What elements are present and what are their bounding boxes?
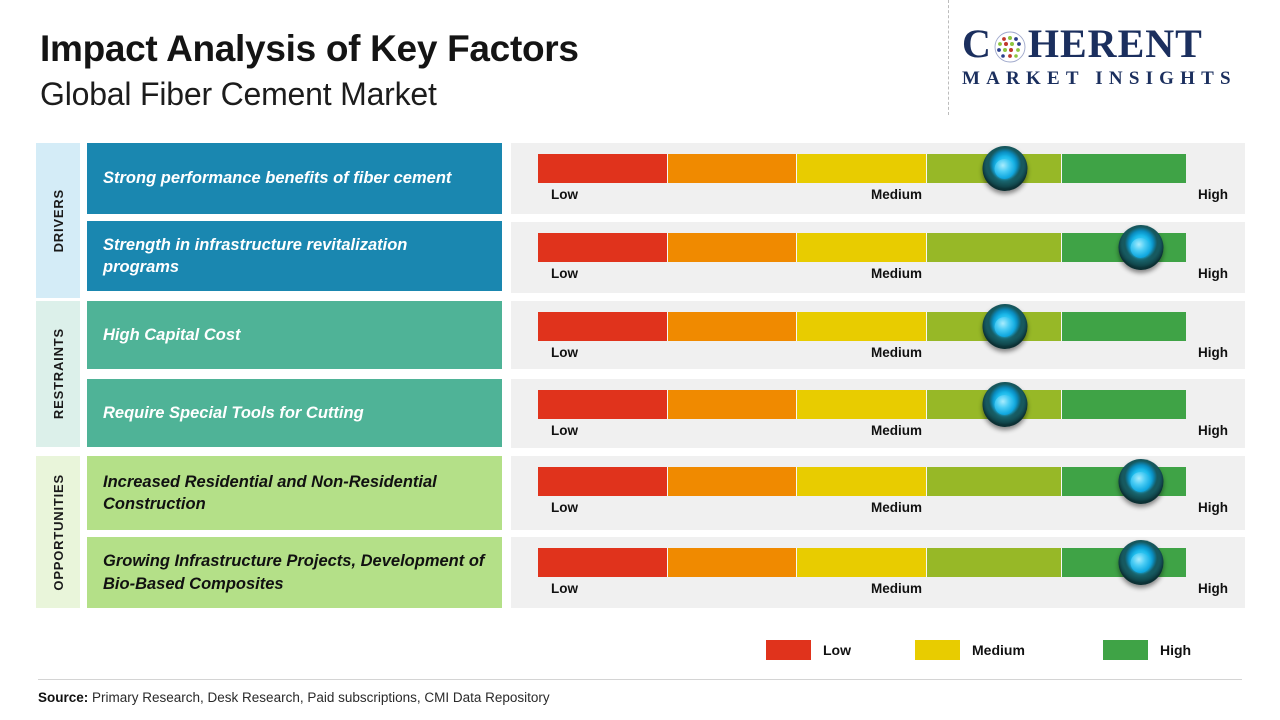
gauge-segment-low-mid — [668, 548, 798, 577]
category-tab-opportunities: OPPORTUNITIES — [36, 456, 80, 608]
source-note: Source: Primary Research, Desk Research,… — [38, 690, 550, 705]
gauge-scale-labels: Low Medium High — [538, 187, 1228, 207]
gauge-segment-low — [538, 467, 668, 496]
page-title: Impact Analysis of Key Factors — [40, 30, 579, 69]
scale-label-low: Low — [551, 266, 578, 281]
footer-divider — [38, 679, 1242, 680]
factor-box: Strong performance benefits of fiber cem… — [87, 143, 502, 214]
factor-box: Strength in infrastructure revitalizatio… — [87, 221, 502, 291]
logo-letter-c: C — [962, 22, 992, 66]
legend-item-low: Low — [766, 640, 851, 660]
gauge-segment-medium — [797, 154, 927, 183]
category-label: RESTRAINTS — [51, 328, 66, 419]
gauge-segment-low-mid — [668, 154, 798, 183]
gauge-segment-mid-high — [927, 548, 1062, 577]
gauge-segment-low — [538, 312, 668, 341]
legend-label: Medium — [972, 642, 1025, 658]
gauge-row: Low Medium High — [511, 301, 1245, 369]
gauge-segment-medium — [797, 467, 927, 496]
header-divider — [948, 0, 949, 115]
gauge-scale-labels: Low Medium High — [538, 500, 1228, 520]
gauge-bar — [538, 467, 1186, 496]
legend-label: High — [1160, 642, 1191, 658]
gauge-row: Low Medium High — [511, 222, 1245, 293]
factor-box: Increased Residential and Non-Residentia… — [87, 456, 502, 530]
scale-label-low: Low — [551, 187, 578, 202]
scale-label-medium: Medium — [871, 345, 922, 360]
gauge-scale-labels: Low Medium High — [538, 423, 1228, 443]
legend-swatch-low — [766, 640, 811, 660]
source-text: Primary Research, Desk Research, Paid su… — [88, 690, 549, 705]
legend-item-medium: Medium — [915, 640, 1025, 660]
gauge-row: Low Medium High — [511, 456, 1245, 530]
gauge-segment-high — [1062, 390, 1186, 419]
scale-label-low: Low — [551, 345, 578, 360]
gauge-segment-low — [538, 233, 668, 262]
legend-label: Low — [823, 642, 851, 658]
gauge-bar — [538, 233, 1186, 262]
gauge-row: Low Medium High — [511, 537, 1245, 608]
gauge-segment-low-mid — [668, 467, 798, 496]
title-block: Impact Analysis of Key Factors Global Fi… — [40, 30, 579, 112]
scale-label-low: Low — [551, 581, 578, 596]
impact-marker — [1118, 225, 1163, 270]
factor-box: Require Special Tools for Cutting — [87, 379, 502, 447]
impact-marker — [982, 382, 1027, 427]
gauge-bar — [538, 548, 1186, 577]
scale-label-low: Low — [551, 423, 578, 438]
gauge-bar — [538, 154, 1186, 183]
scale-label-medium: Medium — [871, 187, 922, 202]
scale-label-high: High — [1198, 500, 1228, 515]
gauge-segment-medium — [797, 312, 927, 341]
impact-marker — [982, 304, 1027, 349]
gauge-segment-low-mid — [668, 233, 798, 262]
gauge-row: Low Medium High — [511, 379, 1245, 448]
scale-label-medium: Medium — [871, 423, 922, 438]
header: Impact Analysis of Key Factors Global Fi… — [0, 0, 1280, 128]
scale-label-high: High — [1198, 187, 1228, 202]
legend-swatch-medium — [915, 640, 960, 660]
scale-label-high: High — [1198, 266, 1228, 281]
legend-item-high: High — [1103, 640, 1191, 660]
scale-label-high: High — [1198, 345, 1228, 360]
legend: Low Medium High — [511, 640, 1245, 668]
company-logo: C — [962, 22, 1262, 98]
scale-label-low: Low — [551, 500, 578, 515]
gauge-segment-high — [1062, 312, 1186, 341]
scale-label-medium: Medium — [871, 581, 922, 596]
gauge-segment-low-mid — [668, 312, 798, 341]
gauge-bar — [538, 390, 1186, 419]
gauge-segment-mid-high — [927, 233, 1062, 262]
gauge-segment-medium — [797, 390, 927, 419]
category-label: DRIVERS — [51, 189, 66, 252]
legend-swatch-high — [1103, 640, 1148, 660]
factor-box: Growing Infrastructure Projects, Develop… — [87, 537, 502, 608]
scale-label-medium: Medium — [871, 266, 922, 281]
gauge-segment-low — [538, 548, 668, 577]
scale-label-high: High — [1198, 581, 1228, 596]
impact-marker — [1118, 459, 1163, 504]
logo-text-rest: HERENT — [1028, 22, 1203, 66]
gauge-row: Low Medium High — [511, 143, 1245, 214]
category-label: OPPORTUNITIES — [51, 474, 66, 591]
gauge-segment-low-mid — [668, 390, 798, 419]
source-prefix: Source: — [38, 690, 88, 705]
logo-wordmark: C — [962, 22, 1262, 66]
page-subtitle: Global Fiber Cement Market — [40, 77, 579, 112]
gauge-segment-low — [538, 154, 668, 183]
factor-box: High Capital Cost — [87, 301, 502, 369]
category-tab-drivers: DRIVERS — [36, 143, 80, 298]
impact-marker — [1118, 540, 1163, 585]
gauge-bar — [538, 312, 1186, 341]
gauge-scale-labels: Low Medium High — [538, 345, 1228, 365]
impact-marker — [982, 146, 1027, 191]
gauge-segment-mid-high — [927, 467, 1062, 496]
gauge-segment-high — [1062, 154, 1186, 183]
logo-tagline: MARKET INSIGHTS — [962, 68, 1262, 90]
gauge-scale-labels: Low Medium High — [538, 581, 1228, 601]
gauge-segment-medium — [797, 548, 927, 577]
scale-label-medium: Medium — [871, 500, 922, 515]
gauge-segment-medium — [797, 233, 927, 262]
gauge-segment-low — [538, 390, 668, 419]
gauge-scale-labels: Low Medium High — [538, 266, 1228, 286]
dotted-sphere-icon — [993, 29, 1027, 63]
category-tab-restraints: RESTRAINTS — [36, 301, 80, 447]
scale-label-high: High — [1198, 423, 1228, 438]
